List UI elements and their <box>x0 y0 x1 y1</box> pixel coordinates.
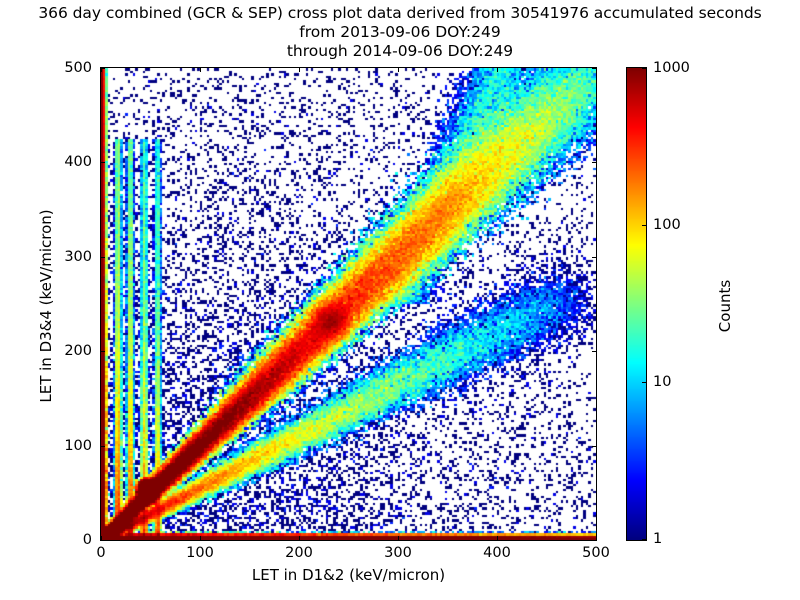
plot-axes <box>100 67 597 541</box>
x-tick-mark <box>200 536 201 540</box>
x-tick-mark <box>200 68 201 72</box>
x-tick-mark <box>398 68 399 72</box>
y-tick-mark <box>101 162 105 163</box>
x-tick-mark <box>299 68 300 72</box>
x-tick-mark <box>596 68 597 72</box>
y-tick-mark <box>592 257 596 258</box>
y-tick-mark <box>592 446 596 447</box>
x-tick-label: 0 <box>96 545 105 561</box>
y-tick-mark <box>592 162 596 163</box>
title-line-1: 366 day combined (GCR & SEP) cross plot … <box>0 4 800 23</box>
y-tick-label: 0 <box>83 532 92 548</box>
y-tick-mark <box>101 540 105 541</box>
y-tick-mark <box>101 351 105 352</box>
y-tick-label: 100 <box>64 438 92 454</box>
x-tick-label: 200 <box>285 545 313 561</box>
y-tick-label: 500 <box>64 60 92 76</box>
x-tick-mark <box>398 536 399 540</box>
colorbar-tick-mark <box>642 382 646 383</box>
y-tick-mark <box>101 68 105 69</box>
colorbar-tick-label: 100 <box>653 217 681 233</box>
colorbar-tick-label: 10 <box>653 374 671 390</box>
title-line-2: from 2013-09-06 DOY:249 <box>0 23 800 42</box>
y-tick-mark <box>592 540 596 541</box>
title-line-3: through 2014-09-06 DOY:249 <box>0 42 800 61</box>
colorbar-gradient <box>627 68 646 540</box>
colorbar-tick-label: 1000 <box>653 60 690 76</box>
colorbar-tick-mark <box>642 225 646 226</box>
y-tick-label: 400 <box>64 154 92 170</box>
y-tick-label: 200 <box>64 343 92 359</box>
y-tick-label: 300 <box>64 249 92 265</box>
x-tick-label: 400 <box>483 545 511 561</box>
colorbar-tick-mark <box>642 68 646 69</box>
x-tick-label: 300 <box>384 545 412 561</box>
figure-canvas: 366 day combined (GCR & SEP) cross plot … <box>0 0 800 600</box>
colorbar-label: Counts <box>716 166 734 446</box>
y-tick-mark <box>592 351 596 352</box>
x-tick-mark <box>497 536 498 540</box>
y-tick-mark <box>101 446 105 447</box>
plot-title: 366 day combined (GCR & SEP) cross plot … <box>0 4 800 61</box>
colorbar-tick-mark <box>642 539 646 540</box>
y-tick-mark <box>101 257 105 258</box>
x-tick-mark <box>497 68 498 72</box>
x-tick-label: 100 <box>186 545 214 561</box>
x-tick-mark <box>299 536 300 540</box>
colorbar-tick-label: 1 <box>653 531 662 547</box>
x-tick-label: 500 <box>582 545 610 561</box>
x-axis-label: LET in D1&2 (keV/micron) <box>100 566 597 584</box>
x-tick-mark <box>596 536 597 540</box>
y-axis-label: LET in D3&4 (keV/micron) <box>37 69 55 543</box>
scatter-density-plot <box>101 68 596 540</box>
colorbar <box>626 67 647 541</box>
y-tick-mark <box>592 68 596 69</box>
